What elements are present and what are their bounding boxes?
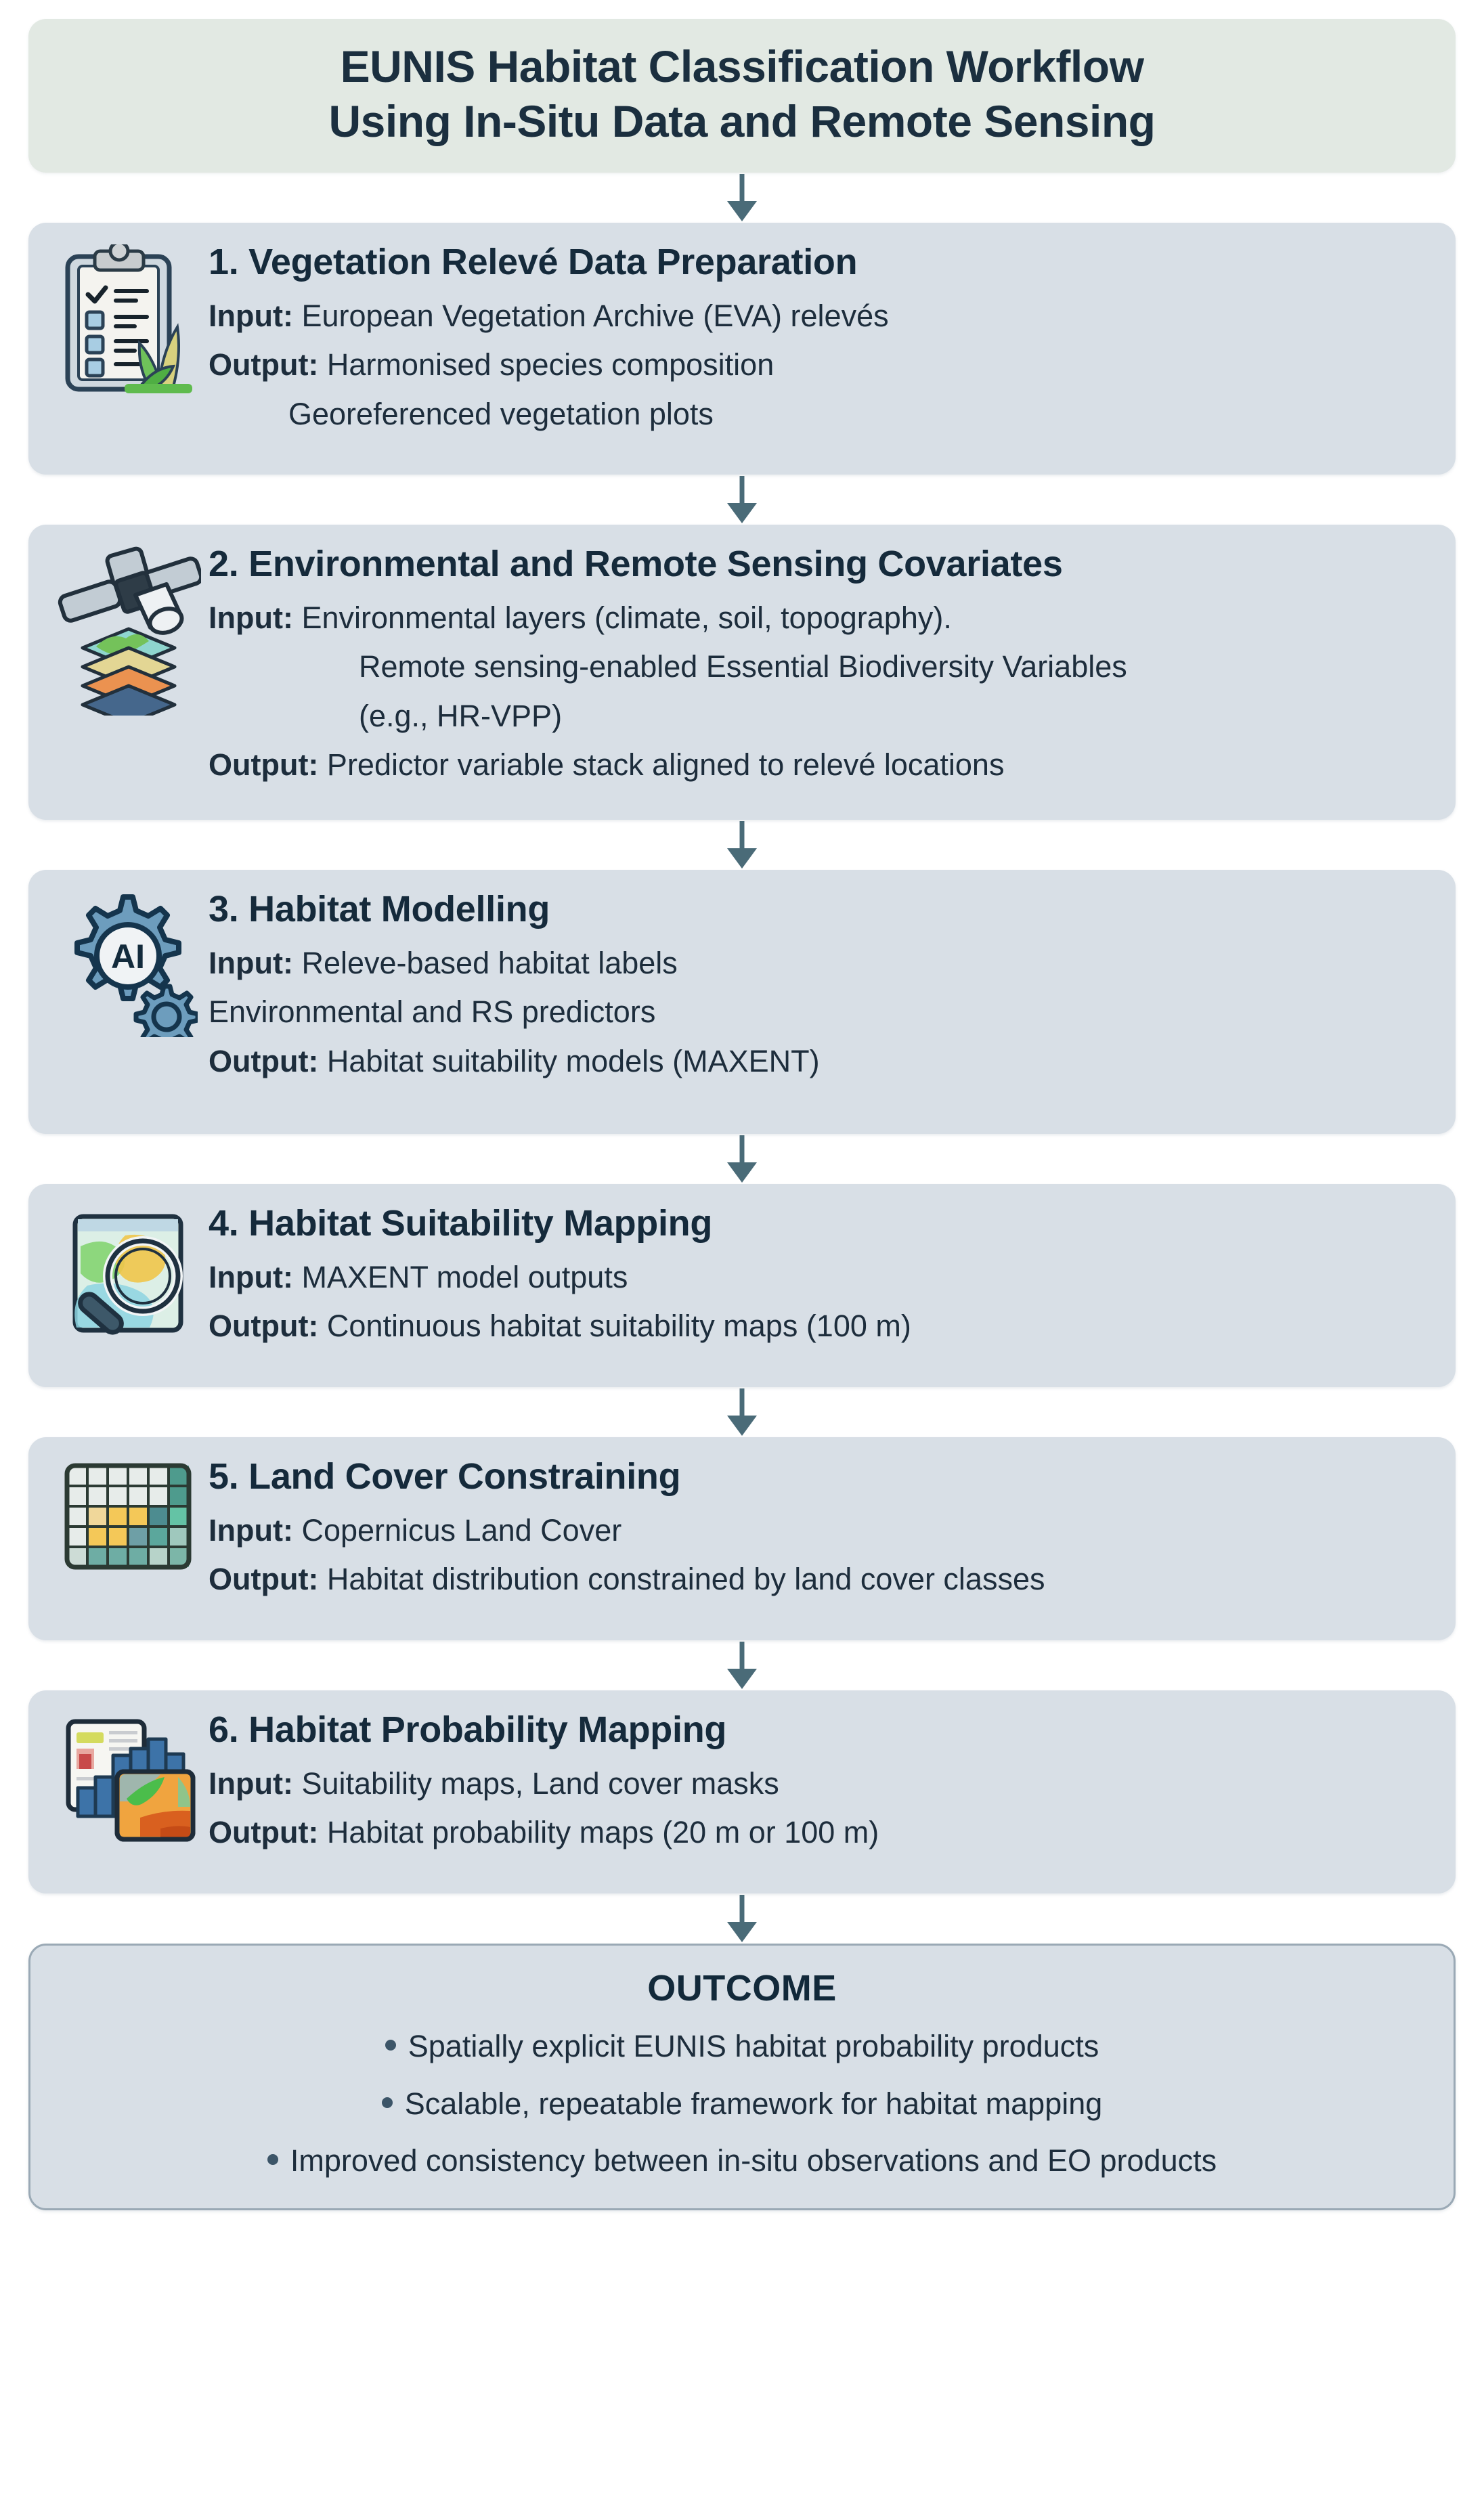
step-2-title: 2. Environmental and Remote Sensing Cova… bbox=[209, 544, 1433, 584]
step-2-body: 2. Environmental and Remote Sensing Cova… bbox=[209, 542, 1433, 785]
output-text: Continuous habitat suitability maps (100… bbox=[318, 1309, 911, 1343]
output-label: Output: bbox=[209, 1044, 318, 1078]
step-5-output-line: Output: Habitat distribution constrained… bbox=[209, 1560, 1433, 1600]
step-3-title: 3. Habitat Modelling bbox=[209, 889, 1433, 929]
input-text: Releve-based habitat labels bbox=[293, 946, 678, 980]
outcome-item-text: Improved consistency between in-situ obs… bbox=[290, 2143, 1217, 2178]
input-label: Input: bbox=[209, 1766, 293, 1801]
input-label: Input: bbox=[209, 600, 293, 635]
bullet-icon bbox=[385, 2040, 396, 2051]
arrow-connector-7 bbox=[28, 1893, 1456, 1944]
list-item: Spatially explicit EUNIS habitat probabi… bbox=[62, 2027, 1422, 2067]
arrow-connector-4 bbox=[28, 1134, 1456, 1184]
diagram-title-line-1: EUNIS Habitat Classification Workflow bbox=[56, 39, 1428, 94]
clipboard-vegetation-icon bbox=[57, 244, 199, 400]
step-1-output-line: Output: Harmonised species composition bbox=[209, 345, 1433, 385]
output-label: Output: bbox=[209, 1815, 318, 1849]
step-4-output-line: Output: Continuous habitat suitability m… bbox=[209, 1307, 1433, 1346]
arrow-connector-5 bbox=[28, 1387, 1456, 1437]
step-6-icon-wrap bbox=[47, 1708, 209, 1847]
input-text: Suitability maps, Land cover masks bbox=[293, 1766, 779, 1801]
output-label: Output: bbox=[209, 347, 318, 382]
arrow-connector-2 bbox=[28, 475, 1456, 525]
step-6-title: 6. Habitat Probability Mapping bbox=[209, 1709, 1433, 1750]
list-item: Scalable, repeatable framework for habit… bbox=[62, 2084, 1422, 2124]
list-item: Improved consistency between in-situ obs… bbox=[62, 2141, 1422, 2181]
step-4-input-line: Input: MAXENT model outputs bbox=[209, 1258, 1433, 1298]
output-text: Predictor variable stack aligned to rele… bbox=[318, 747, 1004, 782]
step-3-input-line: Input: Releve-based habitat labels bbox=[209, 944, 1433, 984]
chart-map-stack-icon bbox=[59, 1712, 198, 1847]
output-text: Harmonised species composition bbox=[318, 347, 774, 382]
outcome-item-text: Scalable, repeatable framework for habit… bbox=[405, 2086, 1103, 2121]
step-6-output-line: Output: Habitat probability maps (20 m o… bbox=[209, 1813, 1433, 1853]
input-label: Input: bbox=[209, 946, 293, 980]
step-box-1: 1. Vegetation Relevé Data Preparation In… bbox=[28, 223, 1456, 475]
input-text: Copernicus Land Cover bbox=[293, 1513, 621, 1548]
step-1-icon-wrap bbox=[47, 240, 209, 400]
arrow-down-icon bbox=[723, 1893, 761, 1944]
arrow-down-icon bbox=[723, 173, 761, 223]
magnifier-map-icon bbox=[60, 1206, 196, 1341]
arrow-connector-6 bbox=[28, 1640, 1456, 1690]
step-1-output-line-2: Georeferenced vegetation plots bbox=[209, 395, 1433, 435]
step-4-body: 4. Habitat Suitability Mapping Input: MA… bbox=[209, 1202, 1433, 1346]
input-text: European Vegetation Archive (EVA) relevé… bbox=[293, 299, 889, 333]
step-2-output-line: Output: Predictor variable stack aligned… bbox=[209, 745, 1433, 785]
step-box-2: 2. Environmental and Remote Sensing Cova… bbox=[28, 525, 1456, 820]
bullet-icon bbox=[267, 2154, 278, 2165]
input-text: MAXENT model outputs bbox=[293, 1260, 628, 1294]
step-3-output-line: Output: Habitat suitability models (MAXE… bbox=[209, 1042, 1433, 1082]
step-2-input-line-3: (e.g., HR-VPP) bbox=[209, 697, 1433, 737]
ai-gear-icon: AI bbox=[59, 892, 198, 1037]
input-label: Input: bbox=[209, 299, 293, 333]
bullet-icon bbox=[382, 2097, 393, 2108]
step-box-6: 6. Habitat Probability Mapping Input: Su… bbox=[28, 1690, 1456, 1893]
step-box-5: 5. Land Cover Constraining Input: Copern… bbox=[28, 1437, 1456, 1640]
step-2-input-line: Input: Environmental layers (climate, so… bbox=[209, 598, 1433, 638]
outcome-list: Spatially explicit EUNIS habitat probabi… bbox=[62, 2027, 1422, 2181]
step-3-icon-wrap: AI bbox=[47, 888, 209, 1037]
step-box-3: AI 3. Habitat Modelling Input: Releve-ba… bbox=[28, 870, 1456, 1134]
arrow-connector-1 bbox=[28, 173, 1456, 223]
step-2-input-line-2: Remote sensing-enabled Essential Biodive… bbox=[209, 647, 1433, 687]
step-1-body: 1. Vegetation Relevé Data Preparation In… bbox=[209, 240, 1433, 434]
input-label: Input: bbox=[209, 1513, 293, 1548]
raster-grid-icon bbox=[60, 1459, 196, 1581]
output-label: Output: bbox=[209, 1562, 318, 1596]
input-label: Input: bbox=[209, 1260, 293, 1294]
outcome-item-text: Spatially explicit EUNIS habitat probabi… bbox=[408, 2029, 1099, 2063]
output-label: Output: bbox=[209, 747, 318, 782]
step-1-title: 1. Vegetation Relevé Data Preparation bbox=[209, 242, 1433, 282]
arrow-down-icon bbox=[723, 1134, 761, 1184]
step-6-input-line: Input: Suitability maps, Land cover mask… bbox=[209, 1764, 1433, 1804]
step-4-title: 4. Habitat Suitability Mapping bbox=[209, 1203, 1433, 1244]
outcome-box: OUTCOME Spatially explicit EUNIS habitat… bbox=[28, 1944, 1456, 2210]
satellite-layers-icon bbox=[56, 546, 201, 716]
output-label: Output: bbox=[209, 1309, 318, 1343]
arrow-down-icon bbox=[723, 1387, 761, 1437]
output-text: Habitat distribution constrained by land… bbox=[318, 1562, 1045, 1596]
diagram-title-line-2: Using In-Situ Data and Remote Sensing bbox=[56, 94, 1428, 149]
step-2-icon-wrap bbox=[47, 542, 209, 716]
output-text: Habitat probability maps (20 m or 100 m) bbox=[318, 1815, 879, 1849]
workflow-diagram: EUNIS Habitat Classification Workflow Us… bbox=[0, 0, 1484, 2498]
step-1-input-line: Input: European Vegetation Archive (EVA)… bbox=[209, 297, 1433, 336]
step-5-icon-wrap bbox=[47, 1455, 209, 1581]
step-4-icon-wrap bbox=[47, 1202, 209, 1341]
output-text: Habitat suitability models (MAXENT) bbox=[318, 1044, 819, 1078]
arrow-down-icon bbox=[723, 475, 761, 525]
outcome-title: OUTCOME bbox=[62, 1967, 1422, 2009]
arrow-connector-3 bbox=[28, 820, 1456, 870]
step-5-input-line: Input: Copernicus Land Cover bbox=[209, 1511, 1433, 1551]
step-5-body: 5. Land Cover Constraining Input: Copern… bbox=[209, 1455, 1433, 1599]
step-5-title: 5. Land Cover Constraining bbox=[209, 1456, 1433, 1497]
diagram-title-box: EUNIS Habitat Classification Workflow Us… bbox=[28, 19, 1456, 173]
step-6-body: 6. Habitat Probability Mapping Input: Su… bbox=[209, 1708, 1433, 1852]
step-box-4: 4. Habitat Suitability Mapping Input: MA… bbox=[28, 1184, 1456, 1387]
step-3-input-line-2: Environmental and RS predictors bbox=[209, 992, 1433, 1032]
svg-text:AI: AI bbox=[111, 938, 145, 976]
arrow-down-icon bbox=[723, 820, 761, 870]
step-3-body: 3. Habitat Modelling Input: Releve-based… bbox=[209, 888, 1433, 1081]
arrow-down-icon bbox=[723, 1640, 761, 1690]
input-text: Environmental layers (climate, soil, top… bbox=[293, 600, 952, 635]
